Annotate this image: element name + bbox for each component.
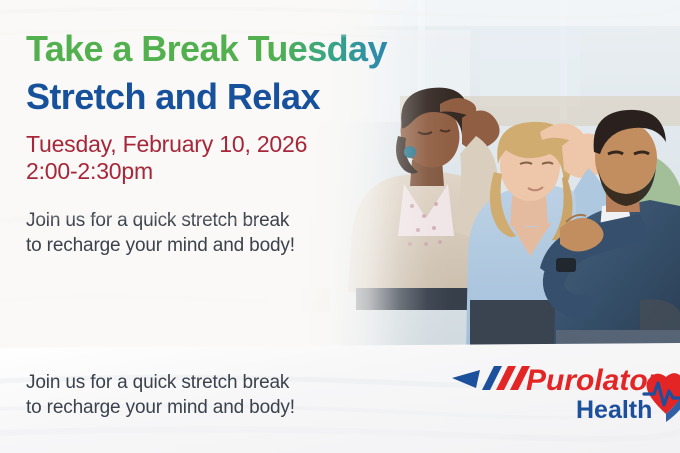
- logo-wordmark: Purolator: [526, 364, 662, 397]
- headline-text-block: Take a Break Tuesday Stretch and Relax T…: [26, 30, 466, 258]
- event-datetime: Tuesday, February 10, 2026 2:00-2:30pm: [26, 131, 466, 186]
- headline-primary: Take a Break Tuesday: [26, 30, 466, 69]
- purolator-slashes-icon: [482, 366, 530, 390]
- purolator-arrow-icon: [452, 370, 480, 388]
- footer-description-line2: to recharge your mind and body!: [26, 396, 386, 421]
- event-description-line2: to recharge your mind and body!: [26, 234, 466, 259]
- headline-secondary: Stretch and Relax: [26, 78, 466, 117]
- event-date: Tuesday, February 10, 2026: [26, 131, 307, 157]
- footer-description: Join us for a quick stretch break to rec…: [26, 371, 386, 420]
- purolator-health-logo: Purolator Health: [452, 364, 680, 426]
- event-description: Join us for a quick stretch break to rec…: [26, 209, 466, 258]
- poster-canvas: Take a Break Tuesday Stretch and Relax T…: [0, 0, 680, 453]
- event-time: 2:00-2:30pm: [26, 158, 466, 186]
- event-description-line1: Join us for a quick stretch break: [26, 210, 289, 231]
- logo-subbrand: Health: [576, 396, 652, 424]
- logo-artwork: Purolator Health: [452, 364, 680, 426]
- footer-description-line1: Join us for a quick stretch break: [26, 372, 289, 393]
